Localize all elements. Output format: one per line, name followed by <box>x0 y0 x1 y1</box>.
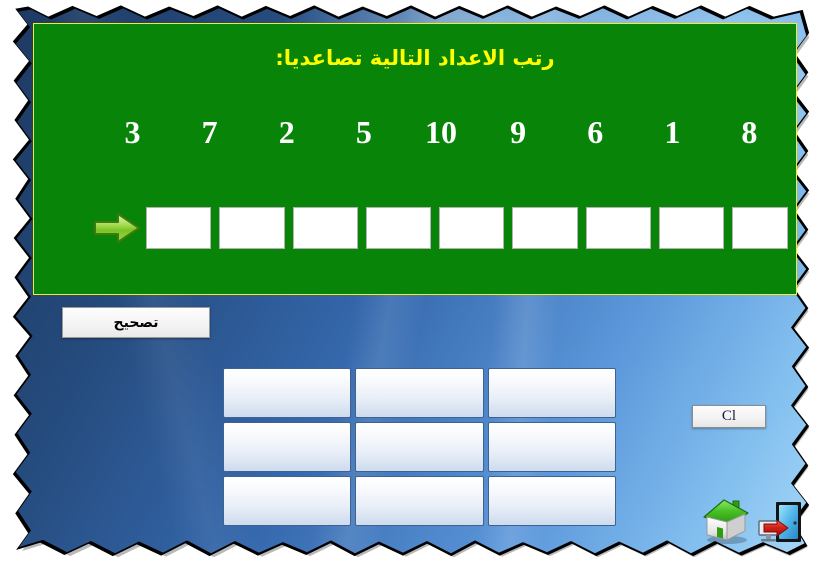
numpad-button[interactable] <box>488 368 616 418</box>
number-item: 6 <box>557 116 634 148</box>
question-title: رتب الاعداد التالية تصاعديا: <box>34 46 796 70</box>
question-panel: رتب الاعداد التالية تصاعديا: 3 7 2 5 10 … <box>33 23 797 295</box>
number-item: 2 <box>248 116 325 148</box>
answer-box[interactable] <box>512 207 577 249</box>
numbers-row: 3 7 2 5 10 9 6 1 8 <box>94 110 788 154</box>
number-item: 10 <box>402 116 479 148</box>
correct-button[interactable]: تصحيح <box>62 307 210 338</box>
numpad-button[interactable] <box>488 422 616 472</box>
answer-box[interactable] <box>439 207 504 249</box>
green-arrow-right-icon <box>94 212 140 244</box>
number-item: 5 <box>325 116 402 148</box>
numpad-button[interactable] <box>355 422 483 472</box>
answer-box[interactable] <box>366 207 431 249</box>
answer-box[interactable] <box>146 207 211 249</box>
arrow-slot <box>88 212 146 244</box>
home-icon <box>700 495 752 545</box>
answer-box[interactable] <box>732 207 788 249</box>
answer-box[interactable] <box>219 207 284 249</box>
numpad-button[interactable] <box>223 476 351 526</box>
clear-button[interactable]: Cl <box>692 405 766 428</box>
numpad-button[interactable] <box>223 368 351 418</box>
number-item: 3 <box>94 116 171 148</box>
numpad-button[interactable] <box>355 368 483 418</box>
home-button[interactable] <box>700 495 752 545</box>
answer-box[interactable] <box>586 207 651 249</box>
number-item: 1 <box>634 116 711 148</box>
number-item: 8 <box>711 116 788 148</box>
numpad-grid <box>223 368 616 526</box>
numpad-button[interactable] <box>488 476 616 526</box>
answer-boxes-strip <box>146 207 788 249</box>
numpad-button[interactable] <box>223 422 351 472</box>
numpad-button[interactable] <box>355 476 483 526</box>
answer-row <box>88 207 788 249</box>
answer-box[interactable] <box>293 207 358 249</box>
exit-icon <box>757 498 803 546</box>
answer-box[interactable] <box>659 207 724 249</box>
slide-stage: رتب الاعداد التالية تصاعديا: 3 7 2 5 10 … <box>0 0 826 573</box>
number-item: 9 <box>480 116 557 148</box>
exit-button[interactable] <box>757 498 803 546</box>
number-item: 7 <box>171 116 248 148</box>
